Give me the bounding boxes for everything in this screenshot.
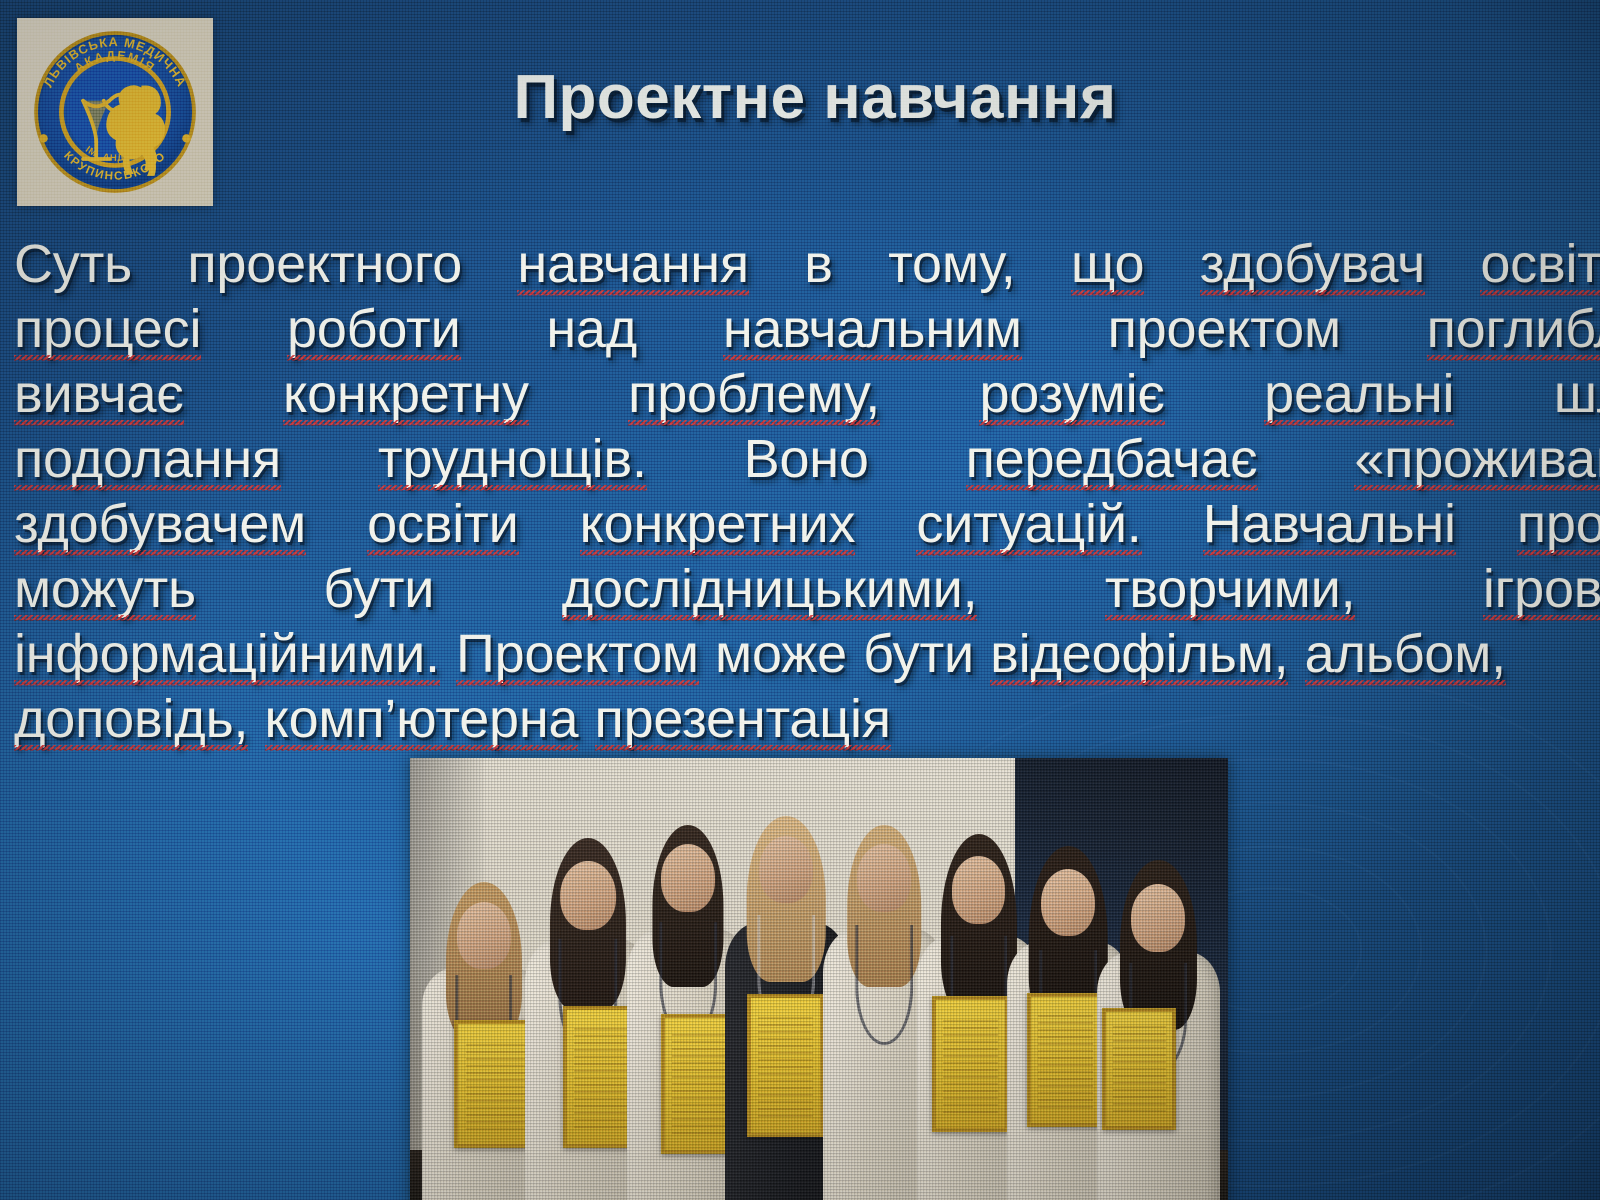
text-line: подоланнятруднощів.Вонопередбачає«прожив… [14, 427, 1600, 492]
text-line: вивчаєконкретнупроблему,розумієреальнішл… [14, 362, 1600, 427]
word: проектного [187, 232, 462, 297]
misspelled-word: можуть [14, 557, 196, 622]
misspelled-word: процесі [14, 297, 201, 362]
misspelled-word: проекти [1517, 492, 1600, 557]
misspelled-word: дослідницькими, [562, 557, 978, 622]
presentation-slide: ЛЬВІВСЬКА МЕДИЧНА АКАДЕМІЯ КРУПИНСЬКОГО … [0, 0, 1600, 1200]
misspelled-word: освіти [367, 492, 518, 557]
word: шляхи [1554, 362, 1600, 427]
misspelled-word: здобувачем [14, 492, 306, 557]
misspelled-word: конкретних [580, 492, 856, 557]
misspelled-word: розуміє [979, 362, 1164, 427]
word: може [715, 622, 847, 687]
misspelled-word: ситуацій. [916, 492, 1141, 557]
word: Воно [744, 427, 869, 492]
misspelled-word: що [1071, 232, 1144, 297]
misspelled-word: ігровими, [1483, 557, 1600, 622]
misspelled-word: Проектом [456, 622, 699, 687]
word: тому, [888, 232, 1016, 297]
misspelled-word: творчими, [1105, 557, 1355, 622]
word: Суть [14, 232, 132, 297]
text-line: можутьбутидослідницькими,творчими,ігрови… [14, 557, 1600, 622]
misspelled-word: вивчає [14, 362, 184, 427]
misspelled-word: подолання [14, 427, 281, 492]
misspelled-word: проблему, [628, 362, 880, 427]
slide-title: Проектне навчання [240, 62, 1390, 133]
word: проектом [1108, 297, 1341, 362]
misspelled-word: поглиблено [1427, 297, 1600, 362]
word: над [546, 297, 637, 362]
text-line: здобувачемосвітиконкретнихситуацій.Навча… [14, 492, 1600, 557]
text-line: доповідь,комп’ютернапрезентація [14, 687, 1600, 752]
word: в [804, 232, 833, 297]
misspelled-word: реальні [1264, 362, 1454, 427]
misspelled-word: освіти [1480, 232, 1600, 297]
misspelled-word: комп’ютерна [265, 687, 579, 752]
misspelled-word: презентація [595, 687, 891, 752]
misspelled-word: «проживання» [1354, 427, 1600, 492]
group-photo [410, 758, 1228, 1200]
misspelled-word: відеофільм, [990, 622, 1288, 687]
slide-body-text: Сутьпроектногонавчаннявтому,щоздобувачос… [14, 232, 1600, 752]
misspelled-word: роботи [287, 297, 461, 362]
misspelled-word: конкретну [283, 362, 529, 427]
misspelled-word: доповідь, [14, 687, 248, 752]
misspelled-word: здобувач [1200, 232, 1425, 297]
misspelled-word: інформаційними. [14, 622, 440, 687]
misspelled-word: Навчальні [1203, 492, 1456, 557]
text-line: Сутьпроектногонавчаннявтому,щоздобувачос… [14, 232, 1600, 297]
academy-logo: ЛЬВІВСЬКА МЕДИЧНА АКАДЕМІЯ КРУПИНСЬКОГО … [17, 18, 213, 206]
word: бути [863, 622, 974, 687]
misspelled-word: альбом, [1305, 622, 1506, 687]
word: бути [323, 557, 434, 622]
misspelled-word: навчання [517, 232, 749, 297]
text-line: інформаційними.Проектомможебутивідеофіль… [14, 622, 1600, 687]
misspelled-word: труднощів. [378, 427, 647, 492]
misspelled-word: навчальним [723, 297, 1022, 362]
text-line: процесіроботинаднавчальнимпроектомпоглиб… [14, 297, 1600, 362]
misspelled-word: передбачає [966, 427, 1258, 492]
